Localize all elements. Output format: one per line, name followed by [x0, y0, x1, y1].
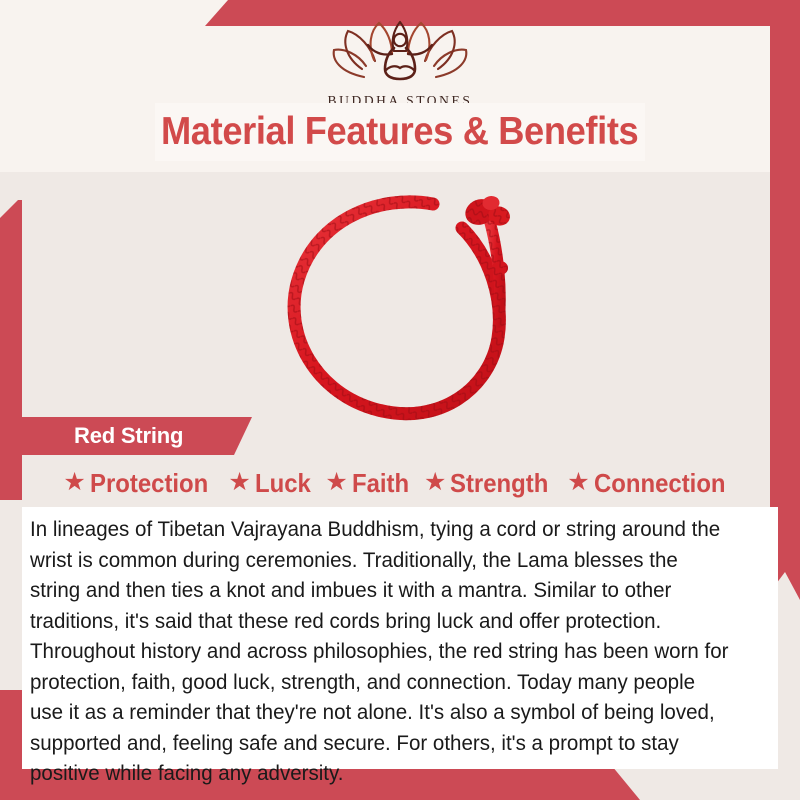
infographic-page: BUDDHA STONES Material Features & Benefi…: [0, 0, 800, 800]
benefit-item-strength: ★ Strength: [424, 468, 557, 499]
star-icon: ★: [325, 470, 347, 495]
product-image-area: [0, 172, 800, 434]
brand-logo: BUDDHA STONES: [0, 14, 800, 109]
benefit-item-connection: ★ Connection: [567, 468, 736, 499]
benefit-label-luck: Luck: [255, 468, 311, 499]
star-icon: ★: [228, 470, 250, 495]
benefit-label-connection: Connection: [594, 468, 726, 499]
benefits-row: ★ Protection ★ Luck ★ Faith ★ Strength ★…: [0, 462, 800, 504]
benefit-label-protection: Protection: [90, 468, 208, 499]
benefit-item-protection: ★ Protection: [63, 468, 218, 499]
benefit-label-strength: Strength: [450, 468, 548, 499]
star-icon: ★: [567, 470, 589, 495]
description-block: In lineages of Tibetan Vajrayana Buddhis…: [22, 507, 778, 769]
benefit-label-faith: Faith: [352, 468, 409, 499]
title-banner: Material Features & Benefits: [155, 103, 645, 161]
lotus-meditation-icon: [324, 14, 476, 91]
star-icon: ★: [63, 470, 85, 495]
product-label: Red String: [74, 423, 183, 449]
page-title: Material Features & Benefits: [161, 110, 638, 154]
decorative-bar-left-lower: [0, 690, 22, 772]
star-icon: ★: [424, 470, 446, 495]
benefit-item-faith: ★ Faith: [325, 468, 414, 499]
benefit-item-luck: ★ Luck: [228, 468, 315, 499]
product-label-banner: Red String: [22, 417, 252, 455]
description-text: In lineages of Tibetan Vajrayana Buddhis…: [30, 514, 731, 789]
red-string-bracelet-photo: [258, 172, 558, 439]
